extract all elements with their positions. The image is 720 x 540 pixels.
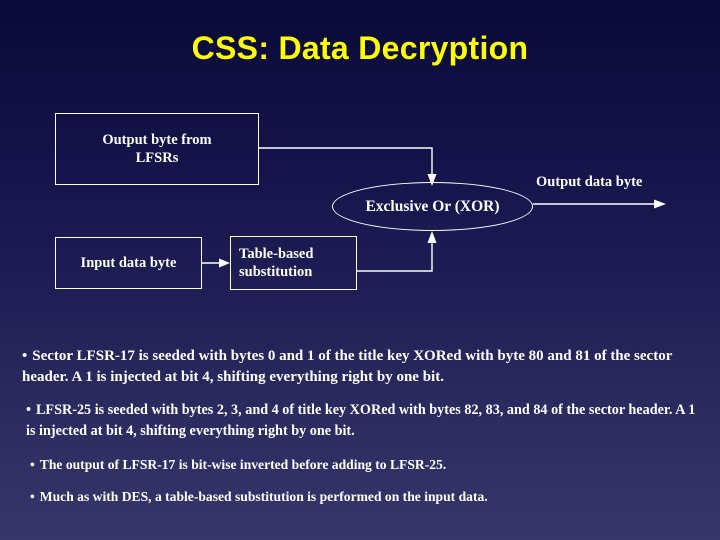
diagram-box-table-substitution[interactable]: Table-based substitution (230, 236, 357, 290)
list-item: •LFSR-25 is seeded with bytes 2, 3, and … (26, 400, 698, 441)
diagram-ellipse-xor[interactable]: Exclusive Or (XOR) (332, 182, 533, 231)
diagram-box-input-data[interactable]: Input data byte (55, 237, 202, 289)
connector-lfsr-to-xor (259, 148, 437, 186)
diagram-ellipse-xor-label: Exclusive Or (XOR) (365, 198, 499, 216)
bullet-text: Much as with DES, a table-based substitu… (40, 489, 488, 504)
bullet-marker: • (30, 489, 35, 504)
connector-table-to-xor (357, 231, 437, 271)
page-title: CSS: Data Decryption (0, 30, 720, 67)
bullet-marker: • (26, 402, 31, 418)
bullet-marker: • (22, 348, 27, 364)
diagram-box-lfsr-output[interactable]: Output byte from LFSRs (55, 113, 259, 185)
bullet-text: Sector LFSR-17 is seeded with bytes 0 an… (22, 348, 672, 385)
diagram-box-lfsr-output-label: Output byte from LFSRs (102, 131, 211, 167)
bullet-text: LFSR-25 is seeded with bytes 2, 3, and 4… (26, 402, 695, 439)
connector-xor-to-output (533, 200, 666, 209)
diagram-label-output-data: Output data byte (536, 174, 642, 191)
bullet-text: The output of LFSR-17 is bit-wise invert… (40, 457, 446, 472)
list-item: •Sector LFSR-17 is seeded with bytes 0 a… (22, 346, 702, 389)
diagram-box-input-data-label: Input data byte (81, 254, 177, 272)
diagram-box-table-substitution-label: Table-based substitution (239, 245, 313, 281)
bullet-marker: • (30, 457, 35, 472)
list-item: •The output of LFSR-17 is bit-wise inver… (30, 455, 694, 474)
list-item: •Much as with DES, a table-based substit… (30, 487, 694, 506)
slide-canvas: CSS: Data Decryption Output byte from LF… (0, 0, 720, 540)
connector-input-to-table (202, 259, 230, 268)
